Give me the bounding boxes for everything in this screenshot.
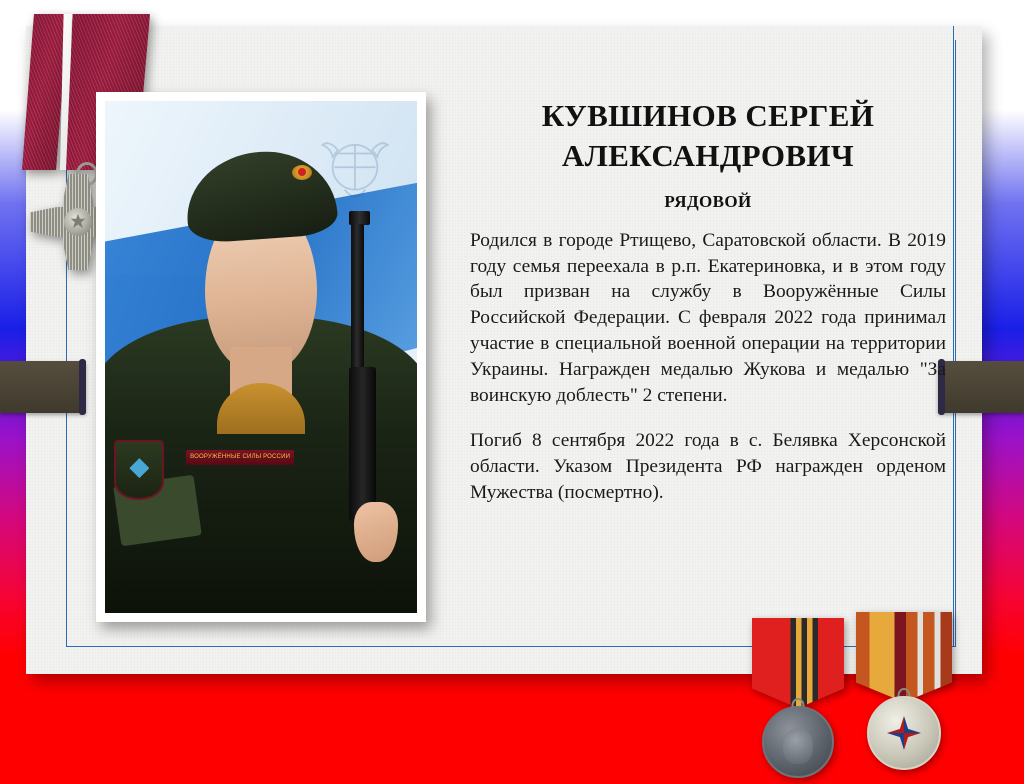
rifle-muzzle: [349, 211, 370, 225]
page-title: КУВШИНОВ СЕРГЕЙ АЛЕКСАНДРОВИЧ: [470, 96, 946, 177]
rifle-body: [349, 367, 376, 521]
title-line-2: АЛЕКСАНДРОВИЧ: [470, 136, 946, 176]
uniform-name-patch: ВООРУЖЁННЫЕ СИЛЫ РОССИИ: [186, 450, 294, 465]
memorial-poster: ВООРУЖЁННЫЕ СИЛЫ РОССИИ КУВШИНОВ СЕРГЕЙ …: [0, 0, 1024, 784]
zhukov-medal-icon: [752, 618, 844, 784]
valour-medal-icon: [856, 612, 952, 784]
rifle-barrel: [351, 224, 364, 378]
ribbon-band-right: [938, 361, 1024, 413]
biography-paragraph-1: Родился в городе Ртищево, Саратовской об…: [470, 228, 946, 409]
portrait-photo-frame: ВООРУЖЁННЫЕ СИЛЫ РОССИИ: [96, 92, 426, 622]
title-line-1: КУВШИНОВ СЕРГЕЙ: [470, 96, 946, 136]
unit-shield-patch: [114, 440, 164, 500]
ribbon-band-left: [0, 361, 86, 413]
valour-medal-disc: [867, 696, 941, 770]
double-headed-eagle-icon: [64, 208, 92, 236]
card-border-right: [953, 26, 954, 646]
uniform-patch-text: ВООРУЖЁННЫЕ СИЛЫ РОССИИ: [186, 450, 294, 465]
zhukov-medal-disc: [762, 706, 834, 778]
biography-paragraph-2: Погиб 8 сентября 2022 года в с. Белявка …: [470, 428, 946, 506]
portrait-photo: ВООРУЖЁННЫЕ СИЛЫ РОССИИ: [105, 101, 417, 613]
background-top-white: [0, 0, 1024, 26]
rank-label: РЯДОВОЙ: [470, 192, 946, 212]
biography-text-column: КУВШИНОВ СЕРГЕЙ АЛЕКСАНДРОВИЧ РЯДОВОЙ Ро…: [470, 96, 946, 506]
ribbon-band-left-cap: [79, 359, 86, 415]
